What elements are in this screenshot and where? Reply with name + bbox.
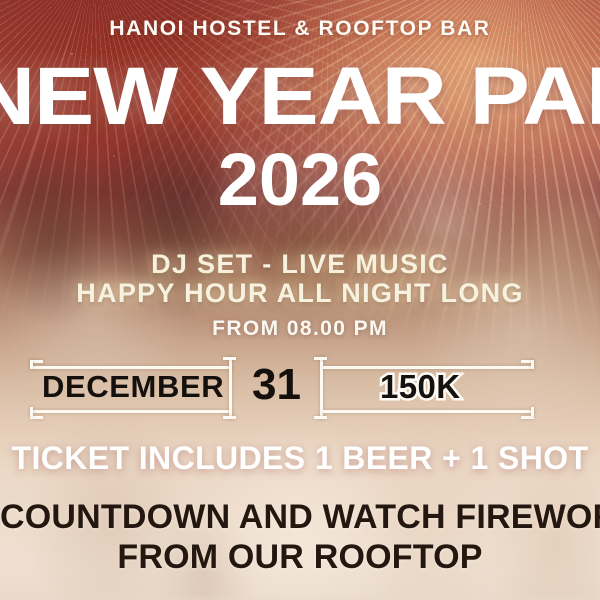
ticket-price: 150K <box>380 368 461 406</box>
promo-line-happy-hour: HAPPY HOUR ALL NIGHT LONG <box>0 278 600 309</box>
month-bracket-bottom-rule <box>30 410 232 413</box>
price-bracket-bottom-rule <box>323 410 533 413</box>
month-bracket-cap-bottom-left <box>30 416 43 419</box>
event-month: DECEMBER <box>42 369 224 405</box>
new-year-party-flyer: HANOI HOSTEL & ROOFTOP BAR NEW YEAR PART… <box>0 0 600 600</box>
venue-name: HANOI HOSTEL & ROOFTOP BAR <box>0 17 600 41</box>
day-price-divider-cap-bottom <box>314 416 327 419</box>
month-day-divider-cap-bottom <box>223 416 236 419</box>
start-time: FROM 08.00 PM <box>0 317 600 341</box>
month-day-divider <box>229 357 232 419</box>
month-bracket-left-tick-bottom <box>30 407 33 416</box>
price-bracket-cap-bottom-right <box>521 416 534 419</box>
outro-countdown-fireworks: COUNTDOWN AND WATCH FIREWORKS <box>0 498 600 537</box>
month-day-divider-cap-top <box>223 357 236 360</box>
page-title: NEW YEAR PARTY <box>0 56 600 138</box>
event-day: 31 <box>252 360 301 410</box>
promo-line-dj-set: DJ SET - LIVE MUSIC <box>0 249 600 280</box>
event-year: 2026 <box>0 143 600 217</box>
month-bracket-left-tick-top <box>30 360 33 369</box>
day-price-divider-cap-top <box>314 357 327 360</box>
price-bracket-right-tick-top <box>531 360 534 369</box>
outro-from-our-rooftop: FROM OUR ROOFTOP <box>0 538 600 577</box>
flyer-content: HANOI HOSTEL & ROOFTOP BAR NEW YEAR PART… <box>0 0 600 600</box>
ticket-inclusions: TICKET INCLUDES 1 BEER + 1 SHOT <box>0 440 600 477</box>
price-bracket-right-tick-bottom <box>531 407 534 416</box>
